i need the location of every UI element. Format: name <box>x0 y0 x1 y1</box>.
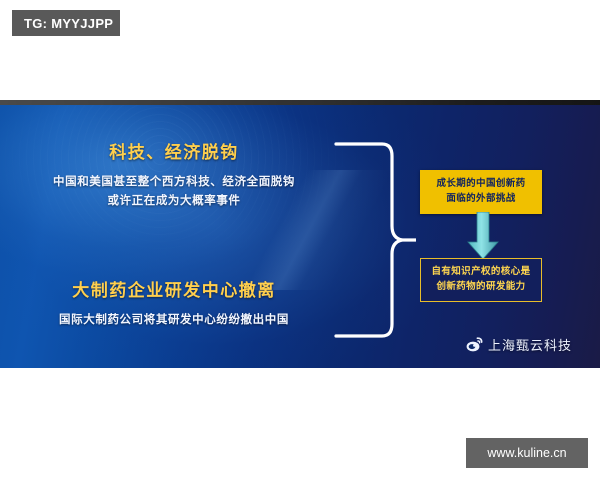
weibo-icon <box>466 337 483 352</box>
challenge-box-line: 面临的外部挑战 <box>426 192 536 207</box>
down-arrow-icon <box>466 212 500 260</box>
topic-body-line: 中国和美国甚至整个西方科技、经济全面脱钩 <box>14 173 334 192</box>
topic-body-line: 国际大制药公司将其研发中心纷纷撤出中国 <box>14 311 334 330</box>
topic-body-line: 或许正在成为大概率事件 <box>14 192 334 211</box>
slide-image: 科技、经济脱钩 中国和美国甚至整个西方科技、经济全面脱钩 或许正在成为大概率事件… <box>0 100 600 368</box>
challenge-box-line: 成长期的中国创新药 <box>426 177 536 192</box>
topic-block-decoupling: 科技、经济脱钩 中国和美国甚至整个西方科技、经济全面脱钩 或许正在成为大概率事件 <box>14 138 334 211</box>
core-box-line: 创新药物的研发能力 <box>427 280 535 295</box>
topic-block-rnd-withdrawal: 大制药企业研发中心撤离 国际大制药公司将其研发中心纷纷撤出中国 <box>14 276 334 330</box>
tg-channel-watermark: TG: MYYJJPP <box>12 10 120 36</box>
challenge-callout-box: 成长期的中国创新药 面临的外部挑战 <box>420 170 542 214</box>
core-box-line: 自有知识产权的核心是 <box>427 265 535 280</box>
core-capability-callout-box: 自有知识产权的核心是 创新药物的研发能力 <box>420 258 542 302</box>
weibo-credit: 上海甄云科技 <box>466 335 572 354</box>
topic-heading: 大制药企业研发中心撤离 <box>14 276 334 301</box>
weibo-credit-name: 上海甄云科技 <box>488 335 572 354</box>
topic-body: 国际大制药公司将其研发中心纷纷撤出中国 <box>14 311 334 330</box>
topic-heading: 科技、经济脱钩 <box>14 138 334 163</box>
site-url-watermark: www.kuline.cn <box>466 438 588 468</box>
curly-brace-connector <box>330 140 416 340</box>
topic-body: 中国和美国甚至整个西方科技、经济全面脱钩 或许正在成为大概率事件 <box>14 173 334 211</box>
